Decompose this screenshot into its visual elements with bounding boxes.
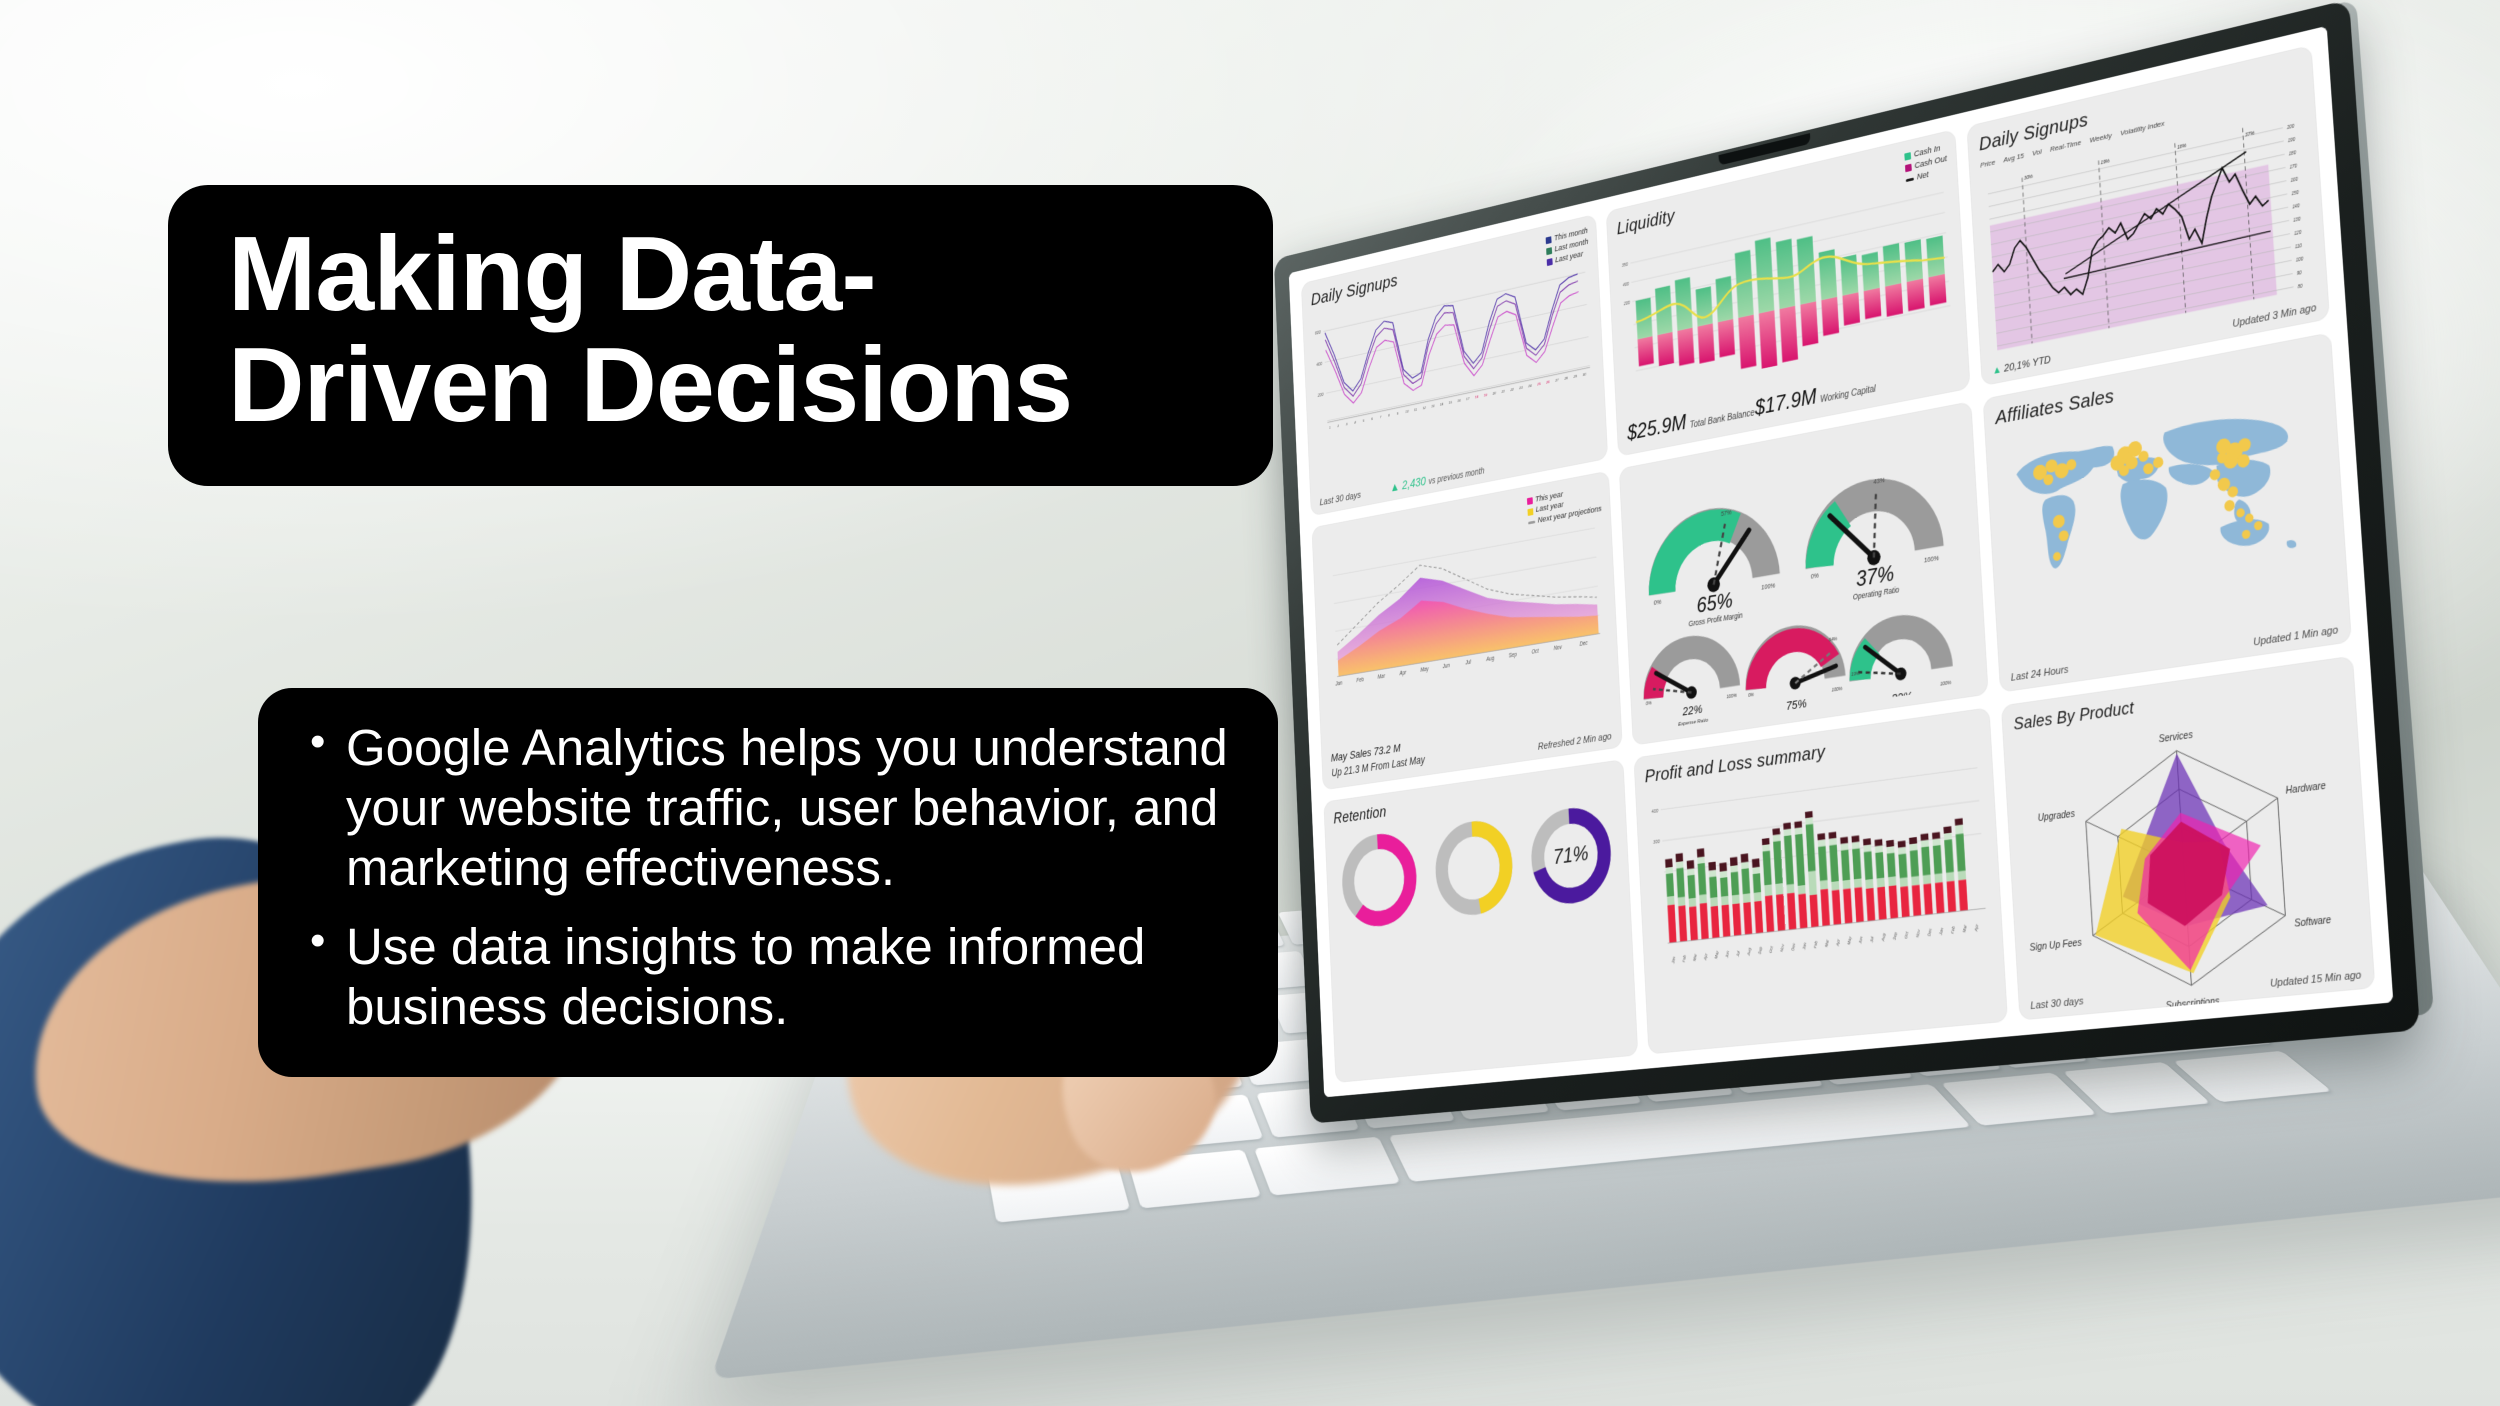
svg-text:11: 11 [1414, 408, 1417, 412]
svg-text:Feb: Feb [1812, 940, 1818, 949]
svg-text:64%: 64% [1828, 636, 1837, 642]
svg-text:200: 200 [1317, 392, 1324, 398]
radar-axis-label: Software [2294, 914, 2331, 929]
bar-chart-liquidity: 350 400 200 [1618, 169, 1956, 408]
card-retention[interactable]: Retention 71% [1323, 759, 1638, 1083]
svg-text:May: May [1846, 935, 1852, 945]
title-line-1: Making Data- [228, 219, 1213, 330]
list-item: Use data insights to make informed busin… [346, 917, 1232, 1037]
svg-text:9: 9 [1397, 412, 1399, 416]
svg-text:18%: 18% [2177, 143, 2186, 150]
svg-text:80: 80 [2297, 283, 2303, 289]
svg-text:Expense Ratio: Expense Ratio [1678, 717, 1708, 727]
svg-text:19%: 19% [2100, 158, 2109, 165]
svg-text:30%: 30% [2024, 173, 2033, 180]
gauge-operating-ratio: 37% Operating Ratio 0%100% 43% [1806, 468, 1941, 608]
svg-text:8: 8 [1388, 413, 1390, 417]
svg-text:Oct: Oct [1532, 648, 1540, 655]
svg-text:Aug: Aug [1485, 656, 1495, 663]
svg-text:21: 21 [1501, 390, 1505, 395]
svg-text:Sep: Sep [1757, 945, 1763, 954]
svg-text:Jan: Jan [1335, 680, 1343, 687]
svg-text:Jan: Jan [1938, 927, 1944, 937]
svg-text:Nov: Nov [1915, 928, 1921, 937]
radar-axis-label: Sign Up Fees [2029, 937, 2082, 953]
slide-canvas: Daily Signups This month Last month Last… [0, 0, 2500, 1406]
svg-text:12: 12 [1423, 406, 1427, 411]
svg-text:26: 26 [1545, 380, 1550, 385]
svg-text:190: 190 [2288, 136, 2296, 143]
svg-text:May: May [1420, 666, 1429, 673]
svg-text:1: 1 [1329, 426, 1331, 430]
svg-text:27: 27 [1554, 378, 1559, 383]
svg-text:600: 600 [1315, 330, 1321, 336]
svg-text:22: 22 [1510, 388, 1515, 393]
retention-value-3: 71% [1553, 841, 1589, 869]
svg-text:23: 23 [1518, 386, 1523, 391]
column-header-vol: Vol [2032, 147, 2042, 157]
svg-text:400: 400 [1622, 281, 1629, 287]
refreshed-label: Refreshed 2 Min ago [1538, 731, 1612, 752]
svg-text:75%: 75% [1786, 696, 1807, 712]
svg-text:32%: 32% [1891, 689, 1913, 705]
svg-text:Dec: Dec [1579, 640, 1588, 647]
card-affiliates-sales[interactable]: Affiliates Sales [1983, 332, 2352, 693]
svg-text:Jul: Jul [1735, 949, 1741, 957]
svg-text:0%: 0% [1810, 572, 1819, 580]
svg-text:Oct: Oct [1768, 945, 1774, 953]
retention-ring-1 [1334, 821, 1425, 938]
column-header-price: Price [1980, 158, 1995, 170]
svg-text:22%: 22% [1681, 702, 1702, 718]
svg-text:150: 150 [2291, 189, 2299, 196]
svg-text:Apr: Apr [1835, 938, 1841, 947]
gauge-net-profit-margin: 32% Net Profit Margin 19%100% [1849, 620, 1952, 720]
card-gauges[interactable]: 65% Gross Profit Margin 0%100% 57% [1619, 401, 1989, 746]
svg-text:May: May [1713, 949, 1719, 959]
working-capital-value: $17.9M [1754, 384, 1817, 420]
svg-text:Jun: Jun [1442, 663, 1450, 670]
svg-text:100: 100 [2296, 256, 2304, 263]
svg-text:140: 140 [2292, 203, 2300, 210]
range-label: Last 24 Hours [2011, 664, 2069, 684]
svg-text:Jun: Jun [1724, 950, 1730, 959]
svg-text:Mar: Mar [1692, 953, 1698, 962]
svg-text:24: 24 [1527, 384, 1531, 389]
svg-text:Oct: Oct [1903, 930, 1909, 938]
svg-text:37%: 37% [2245, 130, 2255, 137]
card-sales-by-product[interactable]: Sales By Product Service [2001, 655, 2376, 1020]
svg-text:Nov: Nov [1554, 644, 1563, 651]
svg-text:17: 17 [1466, 397, 1470, 402]
svg-text:400: 400 [1651, 808, 1658, 815]
svg-text:100%: 100% [1726, 692, 1737, 699]
delta-suffix: vs previous month [1428, 466, 1484, 486]
svg-text:14: 14 [1440, 402, 1443, 406]
svg-text:Jun: Jun [1857, 935, 1863, 944]
svg-text:100%: 100% [1831, 686, 1842, 693]
svg-text:110: 110 [2295, 243, 2303, 250]
svg-text:Apr: Apr [1399, 670, 1408, 677]
svg-text:90: 90 [2297, 270, 2303, 276]
svg-text:Net Profit Margin: Net Profit Margin [1884, 703, 1921, 714]
svg-text:19: 19 [1484, 393, 1487, 397]
svg-text:3: 3 [1346, 422, 1348, 426]
working-capital-label: Working Capital [1820, 384, 1876, 405]
bullet-list: Google Analytics helps you understand yo… [304, 718, 1232, 1037]
svg-text:Jan: Jan [1670, 955, 1676, 964]
svg-text:100%: 100% [1761, 582, 1776, 591]
retention-ring-3: 71% [1523, 794, 1620, 916]
svg-text:400: 400 [1316, 361, 1322, 367]
svg-text:Sep: Sep [1892, 931, 1898, 940]
card-daily-signups-line[interactable]: Daily Signups This month Last month Last… [1301, 214, 1608, 516]
updated-label: Updated 1 Min ago [2253, 624, 2338, 648]
svg-text:170: 170 [2289, 163, 2297, 170]
gauge-gross-profit-margin: 65% Gross Profit Margin 0%100% 57% [1649, 502, 1776, 634]
svg-text:Feb: Feb [1950, 925, 1956, 934]
svg-text:Feb: Feb [1356, 677, 1364, 684]
svg-text:Aug: Aug [1880, 932, 1886, 942]
gauge-expense-ratio: 22% Expense Ratio 0%100% [1643, 640, 1738, 731]
svg-text:Aug: Aug [1746, 947, 1752, 957]
radar-axis-label: Upgrades [2037, 808, 2075, 823]
svg-text:200: 200 [2286, 123, 2295, 130]
svg-text:160: 160 [2290, 176, 2298, 183]
svg-text:0%: 0% [1748, 691, 1754, 697]
svg-text:Nov: Nov [1779, 943, 1785, 952]
svg-text:29: 29 [1573, 374, 1577, 379]
svg-text:120: 120 [2294, 229, 2302, 236]
title-callout: Making Data- Driven Decisions [168, 185, 1273, 486]
svg-text:28: 28 [1564, 376, 1569, 381]
gauge-equity-ratio: 75% Equity Ratio 0%100% 64% [1745, 630, 1843, 726]
svg-text:Apr: Apr [1703, 952, 1709, 961]
svg-text:130: 130 [2293, 216, 2301, 223]
svg-text:13: 13 [1431, 404, 1435, 409]
svg-text:Mar: Mar [1378, 673, 1386, 680]
svg-text:Jan: Jan [1801, 941, 1807, 950]
svg-text:25: 25 [1536, 382, 1541, 387]
radar-axis-label: Subscriptions [2165, 995, 2220, 1011]
svg-text:180: 180 [2289, 150, 2297, 157]
svg-text:Mar: Mar [1824, 939, 1830, 948]
delta-value: 2,430 [1402, 474, 1426, 492]
card-liquidity[interactable]: Liquidity Cash In Cash Out Net [1606, 129, 1971, 456]
svg-text:200: 200 [1623, 300, 1631, 306]
total-bank-balance-value: $25.9M [1627, 410, 1687, 445]
svg-text:10: 10 [1405, 410, 1409, 415]
svg-text:Mar: Mar [1961, 924, 1967, 933]
svg-text:100%: 100% [1924, 554, 1940, 564]
svg-text:15: 15 [1449, 400, 1453, 405]
svg-text:0%: 0% [1646, 700, 1652, 706]
gauge-group: 65% Gross Profit Margin 0%100% 57% [1629, 414, 1976, 734]
svg-text:5: 5 [1363, 419, 1365, 423]
svg-text:Feb: Feb [1681, 954, 1687, 963]
delta-arrow-icon: ▲ [1390, 479, 1400, 494]
svg-text:Sep: Sep [1509, 652, 1517, 659]
svg-text:7: 7 [1380, 415, 1382, 419]
svg-text:20: 20 [1492, 391, 1497, 396]
card-sales-forecast[interactable]: This year Last year Next year projection… [1312, 470, 1623, 790]
range-label: Last 30 days [1320, 490, 1362, 508]
title-line-2: Driven Decisions [228, 330, 1213, 441]
svg-text:16: 16 [1457, 399, 1461, 404]
svg-text:6: 6 [1371, 417, 1373, 421]
list-item: Google Analytics helps you understand yo… [346, 718, 1232, 899]
svg-text:Jul: Jul [1464, 659, 1471, 666]
radar-axis-label: Services [2158, 729, 2193, 744]
svg-text:2: 2 [1337, 424, 1340, 428]
svg-text:4: 4 [1354, 421, 1356, 425]
svg-text:300: 300 [1653, 839, 1660, 846]
ytd-arrow-icon: ▲ [1992, 364, 2002, 377]
svg-text:18: 18 [1475, 395, 1479, 400]
svg-text:100%: 100% [1940, 680, 1951, 687]
radar-axis-label: Hardware [2285, 780, 2326, 796]
total-bank-balance-label: Total Bank Balance [1690, 408, 1755, 430]
card-daily-signups-stock[interactable]: Daily Signups Price Avg 15 Vol Real-Time… [1966, 45, 2330, 386]
svg-text:350: 350 [1621, 262, 1628, 268]
svg-text:Dec: Dec [1926, 927, 1932, 936]
radar-chart-sales-by-product: Services Hardware Software Subscriptions… [2015, 695, 2363, 1020]
svg-text:Jul: Jul [1869, 935, 1875, 943]
stacked-bar-profit-loss: 400 300 [1646, 747, 1991, 969]
area-chart-sales-forecast: JanFebMarApr MayJunJulAug SepOctNovDec [1322, 505, 1608, 704]
bullets-callout: Google Analytics helps you understand yo… [258, 688, 1278, 1077]
retention-ring-2 [1427, 808, 1521, 928]
svg-text:Dec: Dec [1790, 942, 1796, 951]
svg-text:Equity Ratio: Equity Ratio [1784, 711, 1810, 721]
card-profit-loss[interactable]: Profit and Loss summary 400 300 [1633, 707, 2007, 1054]
svg-text:30: 30 [1583, 372, 1587, 377]
svg-text:Apr: Apr [1973, 923, 1979, 932]
svg-text:0%: 0% [1653, 599, 1661, 607]
